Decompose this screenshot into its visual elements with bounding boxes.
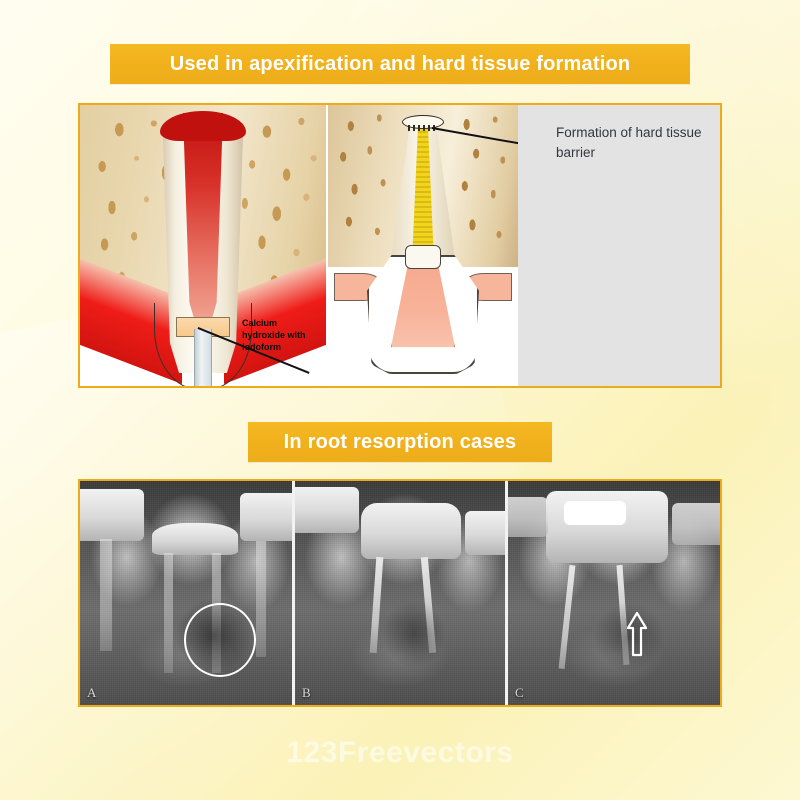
restoration-highlight — [564, 501, 626, 525]
pulp-canal-graphic — [183, 113, 223, 319]
illustration-panel-apical-barrier — [328, 105, 518, 386]
callout-label-hard-tissue-barrier: Formation of hard tissue barrier — [518, 123, 720, 162]
annotation-circle-marker — [184, 603, 256, 677]
radiograph-label-b: B — [302, 685, 311, 701]
watermark-text: 123Freevectors — [0, 736, 800, 770]
radiograph-c: C — [508, 481, 720, 705]
illustration-panel-immature-root: Calcium hydroxide with iodoform — [80, 105, 326, 386]
restoration-radiopacity — [152, 523, 238, 555]
adjacent-tooth-radiopacity — [508, 497, 548, 537]
periapical-radiolucency — [383, 601, 445, 667]
illustration-figure-apexification: Calcium hydroxide with iodoform Formatio… — [78, 103, 722, 388]
delivery-syringe-tip-graphic — [194, 329, 212, 386]
radiograph-label-a: A — [87, 685, 96, 701]
illustration-panel-caption: Formation of hard tissue barrier — [518, 105, 720, 386]
radiograph-b: B — [295, 481, 505, 705]
root-outline-radiopacity — [164, 553, 173, 673]
tooth-crown-radiopacity — [361, 503, 461, 559]
adjacent-tooth-radiopacity — [465, 511, 505, 555]
radiograph-a: A — [80, 481, 292, 705]
section-banner-apexification: Used in apexification and hard tissue fo… — [110, 44, 690, 84]
adjacent-tooth-radiopacity — [672, 503, 720, 545]
cervical-collar-graphic — [405, 245, 441, 269]
adjacent-tooth-radiopacity — [240, 493, 292, 541]
annotation-arrow-marker — [626, 611, 648, 657]
root-outline-radiopacity — [100, 539, 112, 651]
radiograph-figure-root-resorption: A B C — [78, 479, 722, 707]
adjacent-tooth-radiopacity — [295, 487, 359, 533]
section-banner-root-resorption: In root resorption cases — [248, 422, 552, 462]
tooth-crown-radiopacity — [80, 489, 144, 541]
root-outline-radiopacity — [256, 541, 266, 657]
poster-canvas: Used in apexification and hard tissue fo… — [0, 0, 800, 800]
callout-label-calcium-hydroxide: Calcium hydroxide with iodoform — [242, 317, 318, 353]
radiograph-label-c: C — [515, 685, 524, 701]
